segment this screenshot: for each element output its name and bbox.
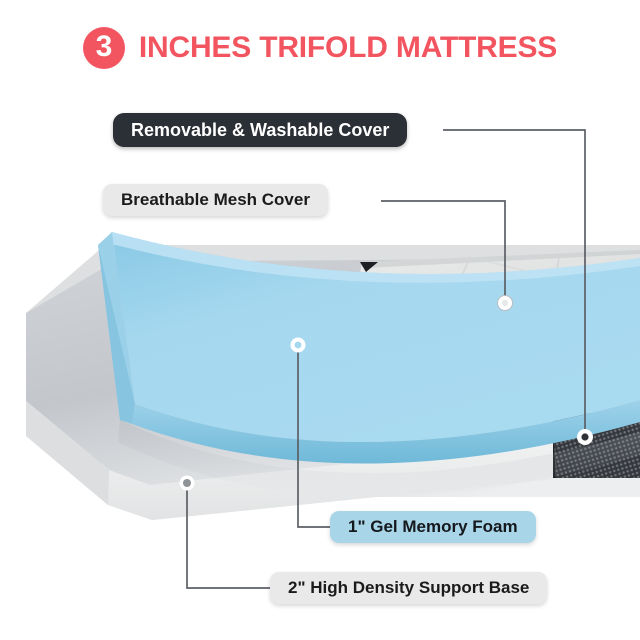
callout-removable-washable-cover[interactable]: Removable & Washable Cover <box>113 113 407 147</box>
callout-breathable-mesh-cover[interactable]: Breathable Mesh Cover <box>103 184 328 216</box>
mattress-illustration <box>0 0 640 640</box>
diagram-canvas: 3 INCHES TRIFOLD MATTRESS <box>0 0 640 640</box>
callout-label: 2" High Density Support Base <box>288 578 529 598</box>
callout-label: 1" Gel Memory Foam <box>348 517 518 537</box>
callout-high-density-support-base[interactable]: 2" High Density Support Base <box>270 572 547 604</box>
callout-gel-memory-foam[interactable]: 1" Gel Memory Foam <box>330 511 536 543</box>
callout-label: Breathable Mesh Cover <box>121 190 310 210</box>
callout-label: Removable & Washable Cover <box>131 120 389 141</box>
